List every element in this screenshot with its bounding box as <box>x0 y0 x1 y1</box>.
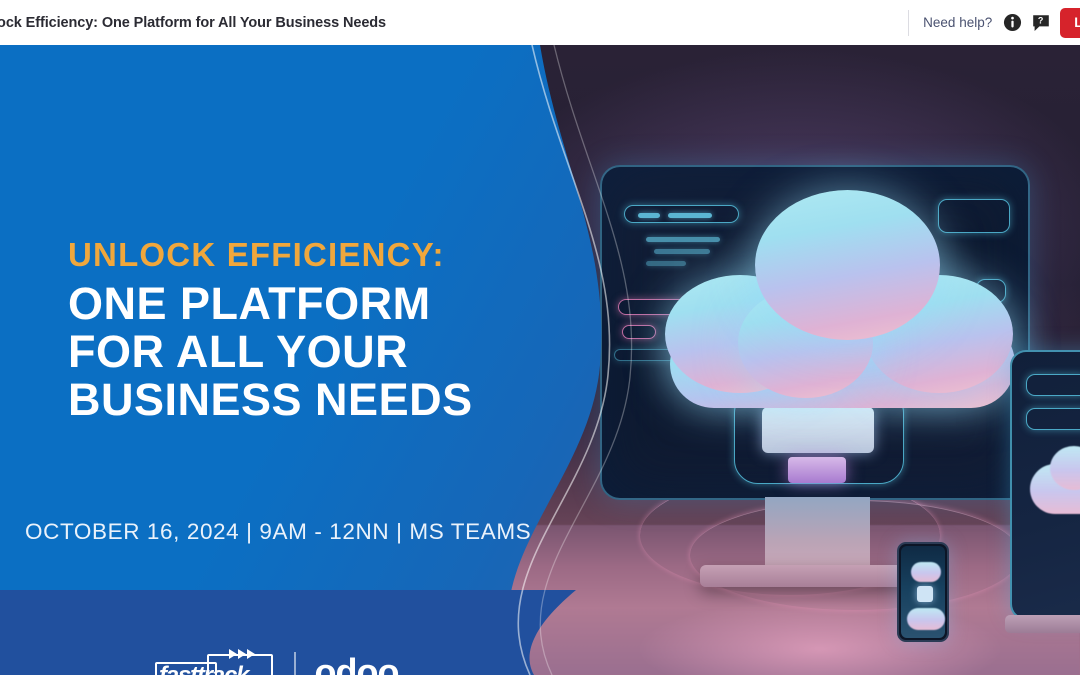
fasttrack-logo: fasttrack <box>155 650 275 675</box>
server-glow-module <box>788 457 846 483</box>
need-help-label: Need help? <box>923 15 992 30</box>
phone-icon-block <box>917 586 933 602</box>
monitor-stand-neck <box>765 497 870 569</box>
hud-chip-1 <box>622 325 656 339</box>
headline-line-2: ONE PLATFORM <box>68 281 473 326</box>
header-divider <box>908 10 909 36</box>
svg-text:?: ? <box>1038 15 1044 25</box>
fast-forward-arrows-icon <box>229 649 255 659</box>
fasttrack-wordmark: fasttrack <box>159 662 275 675</box>
cloud-lobe-top <box>755 190 940 340</box>
odoo-logo: odoo <box>315 650 399 675</box>
page-title: Unlock Efficiency: One Platform for All … <box>0 15 386 31</box>
arrow-tri-3 <box>247 649 255 659</box>
tablet-stand <box>1005 615 1080 633</box>
phone-cloud-bottom <box>907 608 945 630</box>
banner-headline: UNLOCK EFFICIENCY: ONE PLATFORM FOR ALL … <box>68 238 473 425</box>
page-root: Unlock Efficiency: One Platform for All … <box>0 0 1080 675</box>
headline-line-3: FOR ALL YOUR <box>68 329 473 374</box>
question-chat-bubble-icon[interactable]: ? <box>1031 13 1051 33</box>
cta-button[interactable]: Le <box>1060 8 1080 38</box>
arrow-tri-2 <box>238 649 246 659</box>
header-actions: Need help? ? Le <box>908 0 1080 45</box>
logo-row: fasttrack odoo <box>155 650 398 675</box>
site-header: Unlock Efficiency: One Platform for All … <box>0 0 1080 45</box>
tablet-hud-1 <box>1026 374 1080 396</box>
info-circle-icon[interactable] <box>1003 13 1022 32</box>
smartphone-device <box>897 542 949 642</box>
headline-line-1: UNLOCK EFFICIENCY: <box>68 238 473 271</box>
tablet-hud-2 <box>1026 408 1080 430</box>
headline-line-4: BUSINESS NEEDS <box>68 377 473 422</box>
webinar-banner: UNLOCK EFFICIENCY: ONE PLATFORM FOR ALL … <box>0 45 1080 675</box>
tablet-device <box>1010 350 1080 620</box>
hud-bar-1 <box>638 213 660 218</box>
event-details: OCTOBER 16, 2024 | 9AM - 12NN | MS TEAMS <box>25 519 531 545</box>
logo-divider <box>294 652 296 675</box>
phone-cloud-top <box>911 562 941 582</box>
arrow-tri-1 <box>229 649 237 659</box>
cloud-graphic <box>660 180 1030 415</box>
phone-screen <box>901 546 945 638</box>
